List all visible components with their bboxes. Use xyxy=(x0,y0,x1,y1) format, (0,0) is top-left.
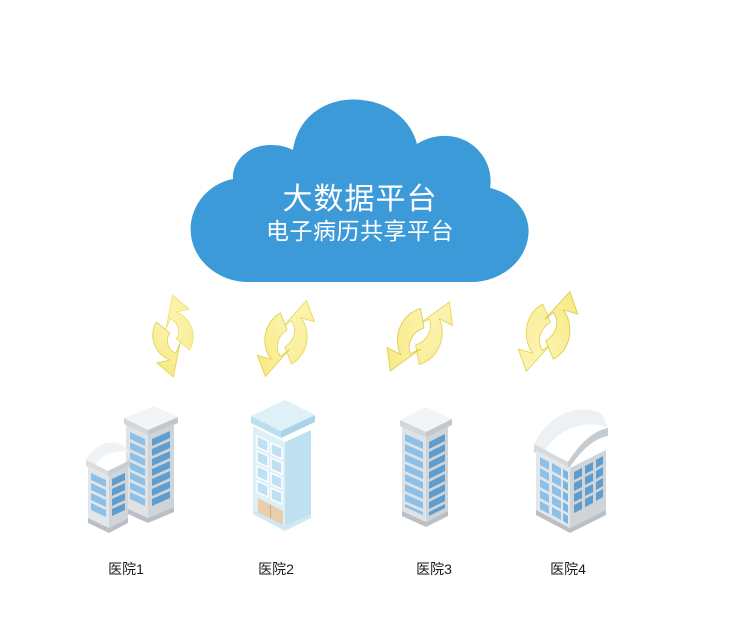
hospital-1-label: 医院1 xyxy=(66,561,186,578)
curved-roof-building-icon xyxy=(522,398,620,540)
sync-arrows-icon xyxy=(372,282,468,390)
hospital-2-building[interactable] xyxy=(241,398,325,540)
narrow-tower-building-icon xyxy=(394,402,468,538)
sync-connector-1[interactable] xyxy=(125,282,221,390)
sync-connector-3[interactable] xyxy=(372,282,468,390)
flat-roof-building-icon xyxy=(241,398,325,540)
cloud-shape-icon xyxy=(180,88,540,293)
twin-tower-building-icon xyxy=(78,400,184,540)
sync-arrows-icon xyxy=(500,278,596,386)
hospital-1-building[interactable] xyxy=(78,400,184,540)
hospital-2-label: 医院2 xyxy=(216,561,336,578)
sync-arrows-icon xyxy=(125,282,221,390)
hospital-3-building[interactable] xyxy=(394,402,468,538)
sync-connector-2[interactable] xyxy=(238,284,334,392)
sync-arrows-icon xyxy=(238,284,334,392)
hospital-4-label: 医院4 xyxy=(508,561,628,578)
sync-connector-4[interactable] xyxy=(500,278,596,386)
hospital-4-building[interactable] xyxy=(522,398,620,540)
hospital-3-label: 医院3 xyxy=(374,561,494,578)
diagram-canvas: 大数据平台 电子病历共享平台 xyxy=(0,0,749,638)
big-data-platform-cloud[interactable]: 大数据平台 电子病历共享平台 xyxy=(180,88,540,293)
